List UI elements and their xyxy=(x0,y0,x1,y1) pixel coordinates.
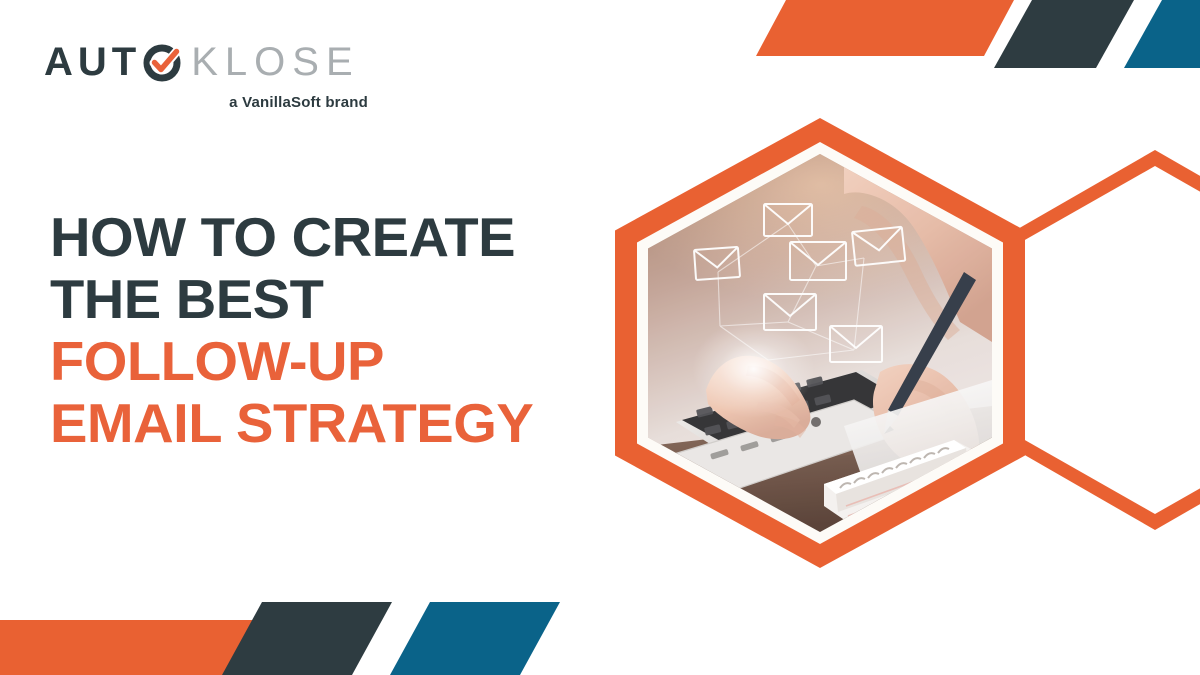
decor-parallelogram-navy-top xyxy=(994,0,1134,68)
hero-hexagon-frame: Hands typing on a laptop beside a spiral… xyxy=(615,118,1025,568)
logo-tagline: a VanillaSoft brand xyxy=(44,94,374,111)
title-line-1: HOW TO CREATE xyxy=(50,206,642,268)
decor-hexagon-outline-inner xyxy=(1002,166,1200,514)
decor-parallelogram-navy-bottom xyxy=(222,602,392,675)
brand-logo: AUT KLOSE a VanillaSoft brand xyxy=(44,42,374,111)
page-title: HOW TO CREATE THE BEST FOLLOW-UP EMAIL S… xyxy=(50,206,630,454)
decor-parallelogram-blue-bottom xyxy=(390,602,560,675)
logo-text-klose: KLOSE xyxy=(191,42,359,82)
logo-text-auto: AUT xyxy=(44,42,141,82)
title-line-4: EMAIL STRATEGY xyxy=(50,392,642,454)
decor-parallelogram-blue-top xyxy=(1124,0,1200,68)
title-line-3: FOLLOW-UP xyxy=(50,330,642,392)
circle-check-icon xyxy=(142,42,182,82)
decor-parallelogram-orange-top xyxy=(756,0,1014,56)
title-line-2: THE BEST xyxy=(50,268,642,330)
logo-wordmark: AUT KLOSE xyxy=(44,42,374,82)
slide-canvas: AUT KLOSE a VanillaSoft brand HOW TO CRE… xyxy=(0,0,1200,675)
